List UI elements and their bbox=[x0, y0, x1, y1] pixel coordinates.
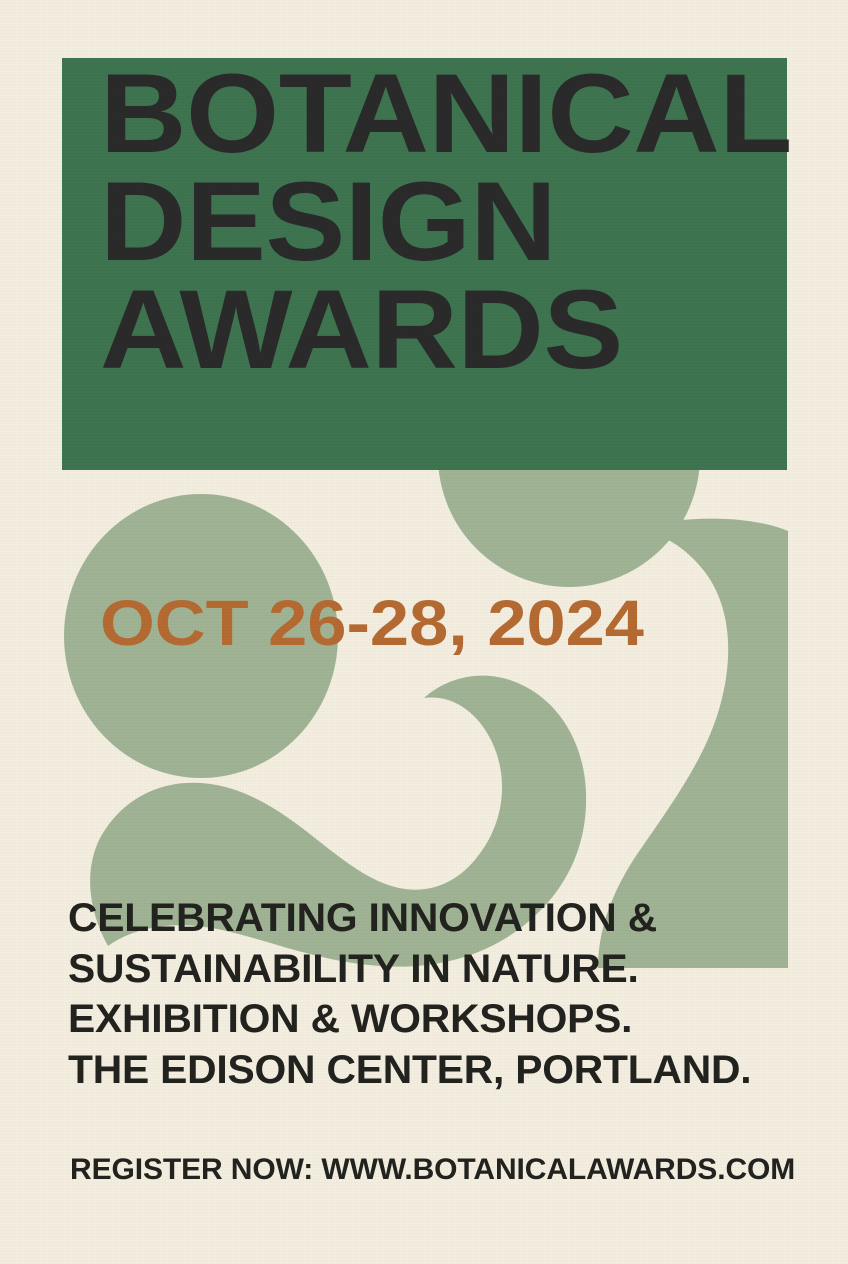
body-line-2: SUSTAINABILITY IN NATURE. bbox=[68, 944, 751, 995]
page-title: BOTANICAL DESIGN AWARDS bbox=[100, 60, 848, 384]
body-line-4: THE EDISON CENTER, PORTLAND. bbox=[68, 1045, 751, 1096]
event-date: OCT 26-28, 2024 bbox=[100, 591, 644, 655]
body-line-1: CELEBRATING INNOVATION & bbox=[68, 893, 751, 944]
headline-line-1: BOTANICAL bbox=[100, 60, 848, 168]
poster-canvas: BOTANICAL DESIGN AWARDS OCT 26-28, 2024 … bbox=[0, 0, 848, 1264]
headline-line-3: AWARDS bbox=[100, 276, 848, 384]
register-cta: REGISTER NOW: WWW.BOTANICALAWARDS.COM bbox=[70, 1155, 795, 1185]
body-line-3: EXHIBITION & WORKSHOPS. bbox=[68, 994, 751, 1045]
headline-line-2: DESIGN bbox=[100, 168, 848, 276]
event-description: CELEBRATING INNOVATION & SUSTAINABILITY … bbox=[68, 893, 751, 1095]
